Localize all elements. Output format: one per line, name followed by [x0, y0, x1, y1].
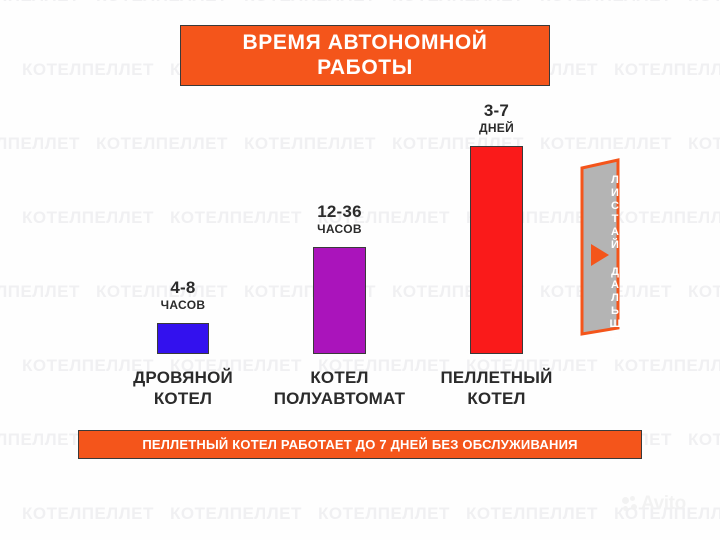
- bar-value-range: 12-36: [270, 203, 410, 221]
- bar-value-label: 4-8ЧАСОВ: [113, 279, 253, 311]
- bottom-banner: ПЕЛЛЕТНЫЙ КОТЕЛ РАБОТАЕТ ДО 7 ДНЕЙ БЕЗ О…: [78, 430, 642, 459]
- avito-dots-icon: [622, 496, 638, 512]
- ribbon-bottom-label: ДАЛЬШЕ: [580, 266, 620, 332]
- title-line-2: РАБОТЫ: [317, 56, 413, 79]
- bar-value-range: 3-7: [427, 102, 567, 120]
- bar-value-unit: ЧАСОВ: [270, 223, 410, 236]
- bar-category-line-1: ПЕЛЛЕТНЫЙ: [402, 368, 592, 389]
- title-text: ВРЕМЯ АВТОНОМНОЙ РАБОТЫ: [243, 31, 488, 79]
- title-line-1: ВРЕМЯ АВТОНОМНОЙ: [243, 31, 488, 54]
- title-banner: ВРЕМЯ АВТОНОМНОЙ РАБОТЫ: [180, 25, 550, 86]
- bar-value-unit: ДНЕЙ: [427, 122, 567, 135]
- bar-category-line-2: КОТЕЛ: [402, 389, 592, 410]
- bar-value-unit: ЧАСОВ: [113, 299, 253, 312]
- swipe-next-ribbon[interactable]: ЛИСТАЙ ДАЛЬШЕ: [580, 158, 620, 336]
- chart-bar: [470, 146, 523, 354]
- bar-category-label: ПЕЛЛЕТНЫЙКОТЕЛ: [402, 368, 592, 409]
- infographic-canvas: КОТЕЛПЕЛЛЕТКОТЕЛПЕЛЛЕТКОТЕЛПЕЛЛЕТКОТЕЛПЕ…: [0, 0, 720, 540]
- chart-bar: [313, 247, 366, 354]
- bar-value-label: 3-7ДНЕЙ: [427, 102, 567, 134]
- bottom-banner-text: ПЕЛЛЕТНЫЙ КОТЕЛ РАБОТАЕТ ДО 7 ДНЕЙ БЕЗ О…: [142, 437, 577, 452]
- bar-value-range: 4-8: [113, 279, 253, 297]
- chart-bar: [157, 323, 209, 354]
- avito-logo: Avito: [622, 493, 686, 515]
- triangle-right-icon: [591, 244, 609, 266]
- bar-value-label: 12-36ЧАСОВ: [270, 203, 410, 235]
- ribbon-top-label: ЛИСТАЙ: [580, 174, 620, 246]
- avito-wordmark: Avito: [641, 493, 686, 515]
